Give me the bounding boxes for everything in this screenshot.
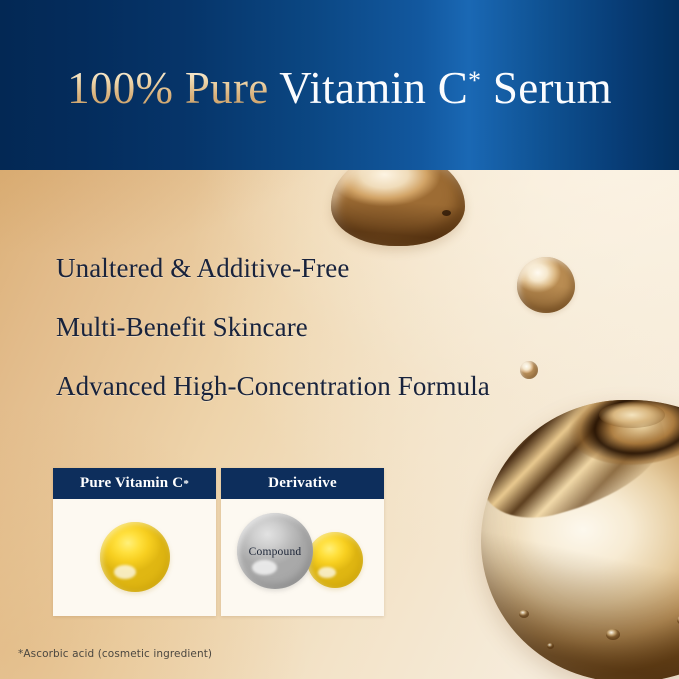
title-serum: Serum xyxy=(481,63,612,113)
comparison-table: Pure Vitamin C* Derivative Compound xyxy=(53,468,385,616)
molecule-highlight xyxy=(252,560,276,575)
title-vitamin-c: Vitamin C xyxy=(279,63,468,113)
vitamin-c-molecule-icon xyxy=(100,522,170,592)
title-percent: 100% xyxy=(67,63,173,113)
page-title: 100% Pure Vitamin C* Serum xyxy=(0,62,679,114)
column-body-derivative: Compound xyxy=(221,499,384,616)
claim-item: Advanced High-Concentration Formula xyxy=(56,373,616,400)
molecule-highlight xyxy=(318,567,336,578)
compound-molecule-icon: Compound xyxy=(237,513,313,589)
title-asterisk: * xyxy=(468,66,481,95)
column-header-label: Derivative xyxy=(268,475,337,492)
column-body-pure-vitamin-c xyxy=(53,499,216,616)
column-header-derivative: Derivative xyxy=(221,468,384,499)
vitamin-c-molecule-icon xyxy=(307,532,363,588)
comparison-column-pure-vitamin-c: Pure Vitamin C* xyxy=(53,468,216,616)
column-header-asterisk: * xyxy=(183,478,189,490)
molecule-highlight xyxy=(114,565,136,579)
claim-item: Multi-Benefit Skincare xyxy=(56,314,616,341)
claims-list: Unaltered & Additive-Free Multi-Benefit … xyxy=(56,255,616,432)
title-pure: Pure xyxy=(173,63,279,113)
column-header-label: Pure Vitamin C xyxy=(80,475,183,492)
column-header-pure-vitamin-c: Pure Vitamin C* xyxy=(53,468,216,499)
footnote: *Ascorbic acid (cosmetic ingredient) xyxy=(18,648,212,660)
compound-label: Compound xyxy=(237,546,313,558)
claim-item: Unaltered & Additive-Free xyxy=(56,255,616,282)
comparison-column-derivative: Derivative Compound xyxy=(221,468,384,616)
product-infographic: 100% Pure Vitamin C* Serum Unaltered & A… xyxy=(0,0,679,679)
